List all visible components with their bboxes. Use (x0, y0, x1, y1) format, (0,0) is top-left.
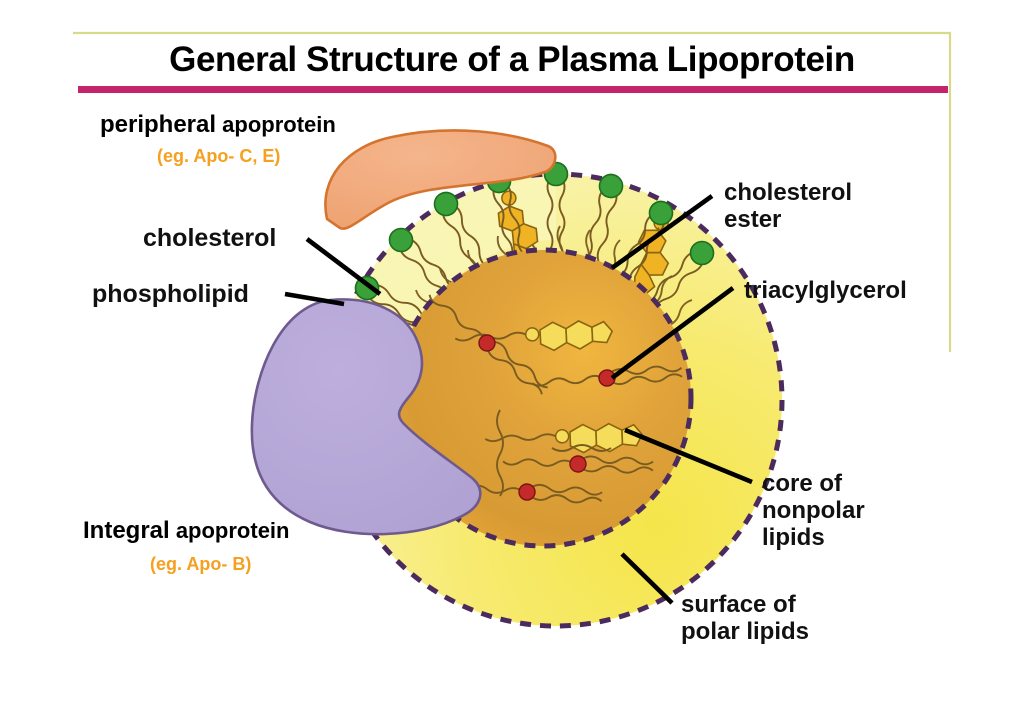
surface-label-line2: polar lipids (681, 619, 809, 646)
lipoprotein-diagram (0, 0, 1024, 724)
peripheral-apoprotein-example: (eg. Apo- C, E) (157, 146, 280, 167)
cholesterol-label: cholesterol (143, 224, 276, 253)
leader-cholesterol (307, 239, 380, 294)
integral-apoprotein-label-emphasis: Integral (83, 517, 170, 544)
core-label-line1: core of (762, 471, 865, 498)
peripheral-apoprotein-label-emphasis: peripheral (100, 111, 216, 138)
peripheral-apoprotein-label: peripheral apoprotein (100, 111, 336, 139)
integral-apoprotein-label: Integral apoprotein (83, 517, 289, 545)
surface-of-polar-lipids-label: surface of polar lipids (681, 592, 809, 646)
core-of-nonpolar-lipids-label: core of nonpolar lipids (762, 471, 865, 552)
cholesterol-ester-label-line2: ester (724, 207, 852, 234)
peripheral-apoprotein-label-plain: apoprotein (222, 112, 336, 137)
integral-apoprotein-label-plain: apoprotein (176, 518, 290, 543)
integral-apoprotein-example: (eg. Apo- B) (150, 554, 251, 575)
triacylglycerol-label: triacylglycerol (744, 277, 907, 305)
phospholipid-label: phospholipid (92, 280, 249, 309)
title-rule (78, 86, 948, 93)
cholesterol-ester-label-line1: cholesterol (724, 180, 852, 207)
core-label-line3: lipids (762, 525, 865, 552)
page-title: General Structure of a Plasma Lipoprotei… (0, 40, 1024, 80)
core-label-line2: nonpolar (762, 498, 865, 525)
cholesterol-ester-label: cholesterol ester (724, 180, 852, 234)
surface-label-line1: surface of (681, 592, 809, 619)
page-title-text: General Structure of a Plasma Lipoprotei… (169, 40, 855, 79)
slide-canvas: General Structure of a Plasma Lipoprotei… (0, 0, 1024, 724)
